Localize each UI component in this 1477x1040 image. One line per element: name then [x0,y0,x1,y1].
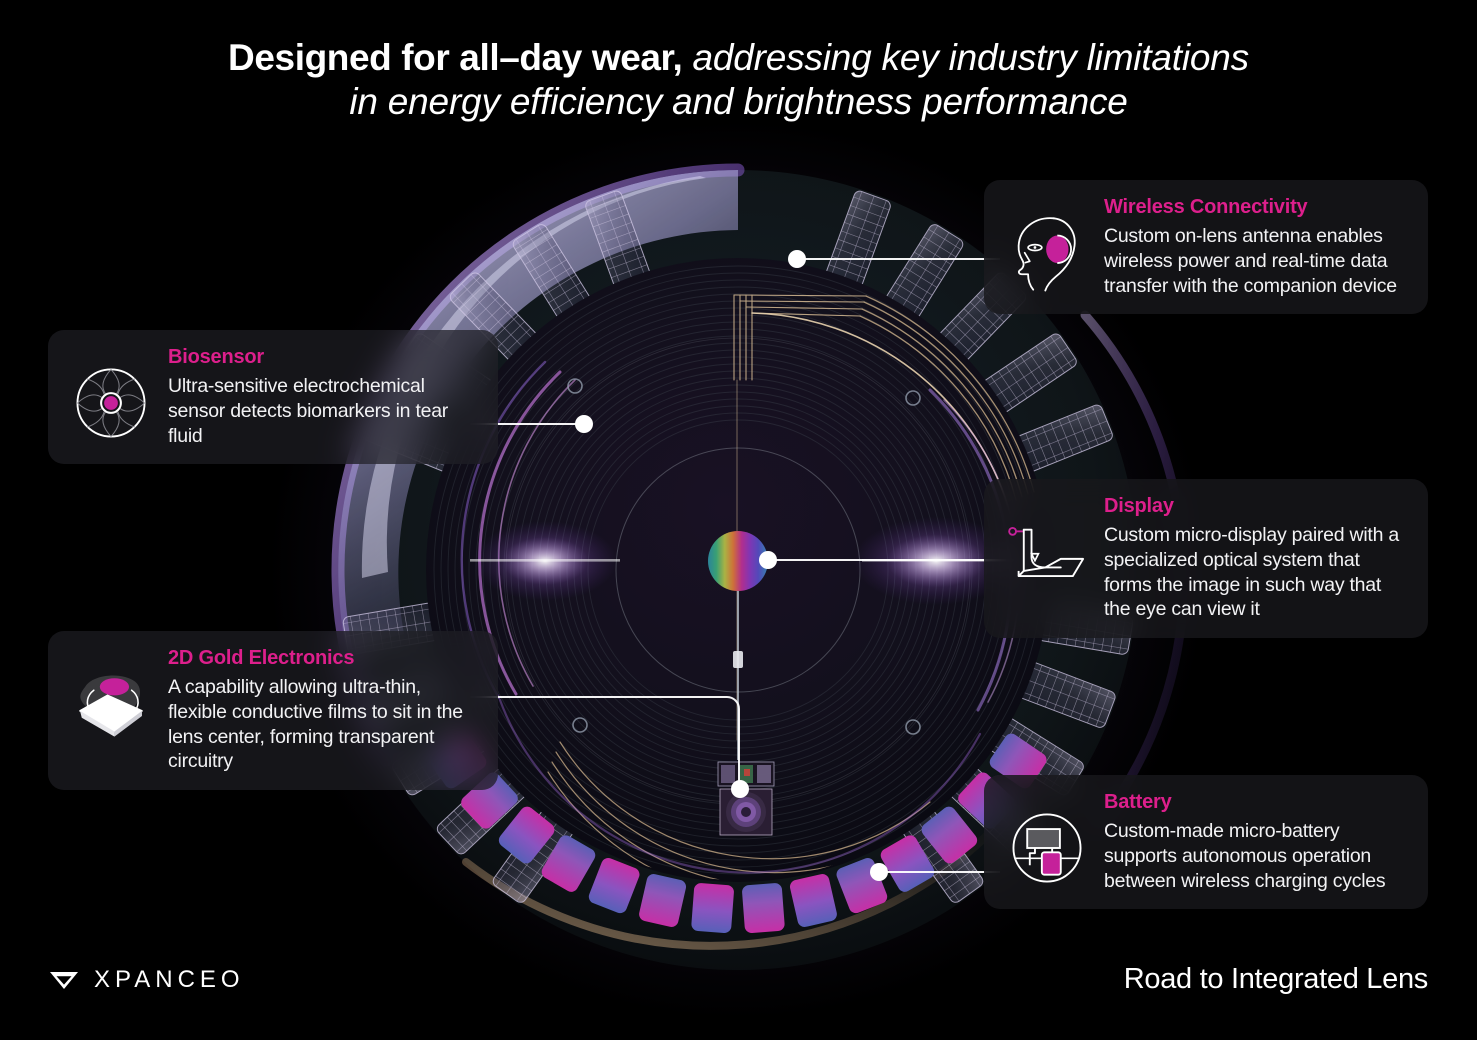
callout-card-2d-gold-electronics[interactable]: 2D Gold Electronics A capability allowin… [48,631,498,790]
card-body: Custom-made micro-battery supports auton… [1104,819,1408,893]
title-italic-part: addressing key industry limitations [682,37,1249,78]
micro-display-element [708,531,768,591]
micro-battery-circle-icon [1004,805,1090,891]
biosensor-circle-icon [68,360,154,446]
battery-cell [742,883,785,934]
card-body: Ultra-sensitive electrochemical sensor d… [168,374,478,448]
card-body: Custom micro-display paired with a speci… [1104,523,1408,622]
head-profile-antenna-icon [1004,208,1090,294]
logo-wordmark: XPANCEO [94,966,245,994]
card-body: A capability allowing ultra-thin, flexib… [168,675,478,774]
callout-card-battery[interactable]: Battery Custom-made micro-battery suppor… [984,775,1428,909]
biosensor-hotspot[interactable] [575,415,593,433]
callout-card-biosensor[interactable]: Biosensor Ultra-sensitive electrochemica… [48,330,498,464]
card-heading: Display [1104,495,1408,517]
card-heading: Wireless Connectivity [1104,196,1408,218]
title-bold-part: Designed for all–day wear, [228,37,682,78]
optical-waveguide-icon [1004,509,1090,595]
card-body: Custom on-lens antenna enables wireless … [1104,224,1408,298]
battery-cell-hotspot[interactable] [870,863,888,881]
gold-electronics-hotspot[interactable] [731,780,749,798]
xpanceo-chevron-mark [49,969,79,991]
driver-chip-module [718,762,774,835]
card-heading: 2D Gold Electronics [168,647,478,669]
footer-tagline: Road to Integrated Lens [1124,963,1428,996]
title-line-2: in energy efficiency and brightness perf… [0,80,1477,124]
gold-film-sheet-icon [68,661,154,747]
callout-card-wireless-connectivity[interactable]: Wireless Connectivity Custom on-lens ant… [984,180,1428,314]
display-center-hotspot[interactable] [759,551,777,569]
battery-cell [691,883,734,934]
page-title: Designed for all–day wear, addressing ke… [0,36,1477,123]
title-line-1: Designed for all–day wear, addressing ke… [0,36,1477,80]
wireless-antenna-hotspot[interactable] [788,250,806,268]
card-heading: Battery [1104,791,1408,813]
xpanceo-logo[interactable]: XPANCEO [49,966,245,994]
callout-card-display[interactable]: Display Custom micro-display paired with… [984,479,1428,638]
trace-contact [733,651,743,668]
card-heading: Biosensor [168,346,478,368]
